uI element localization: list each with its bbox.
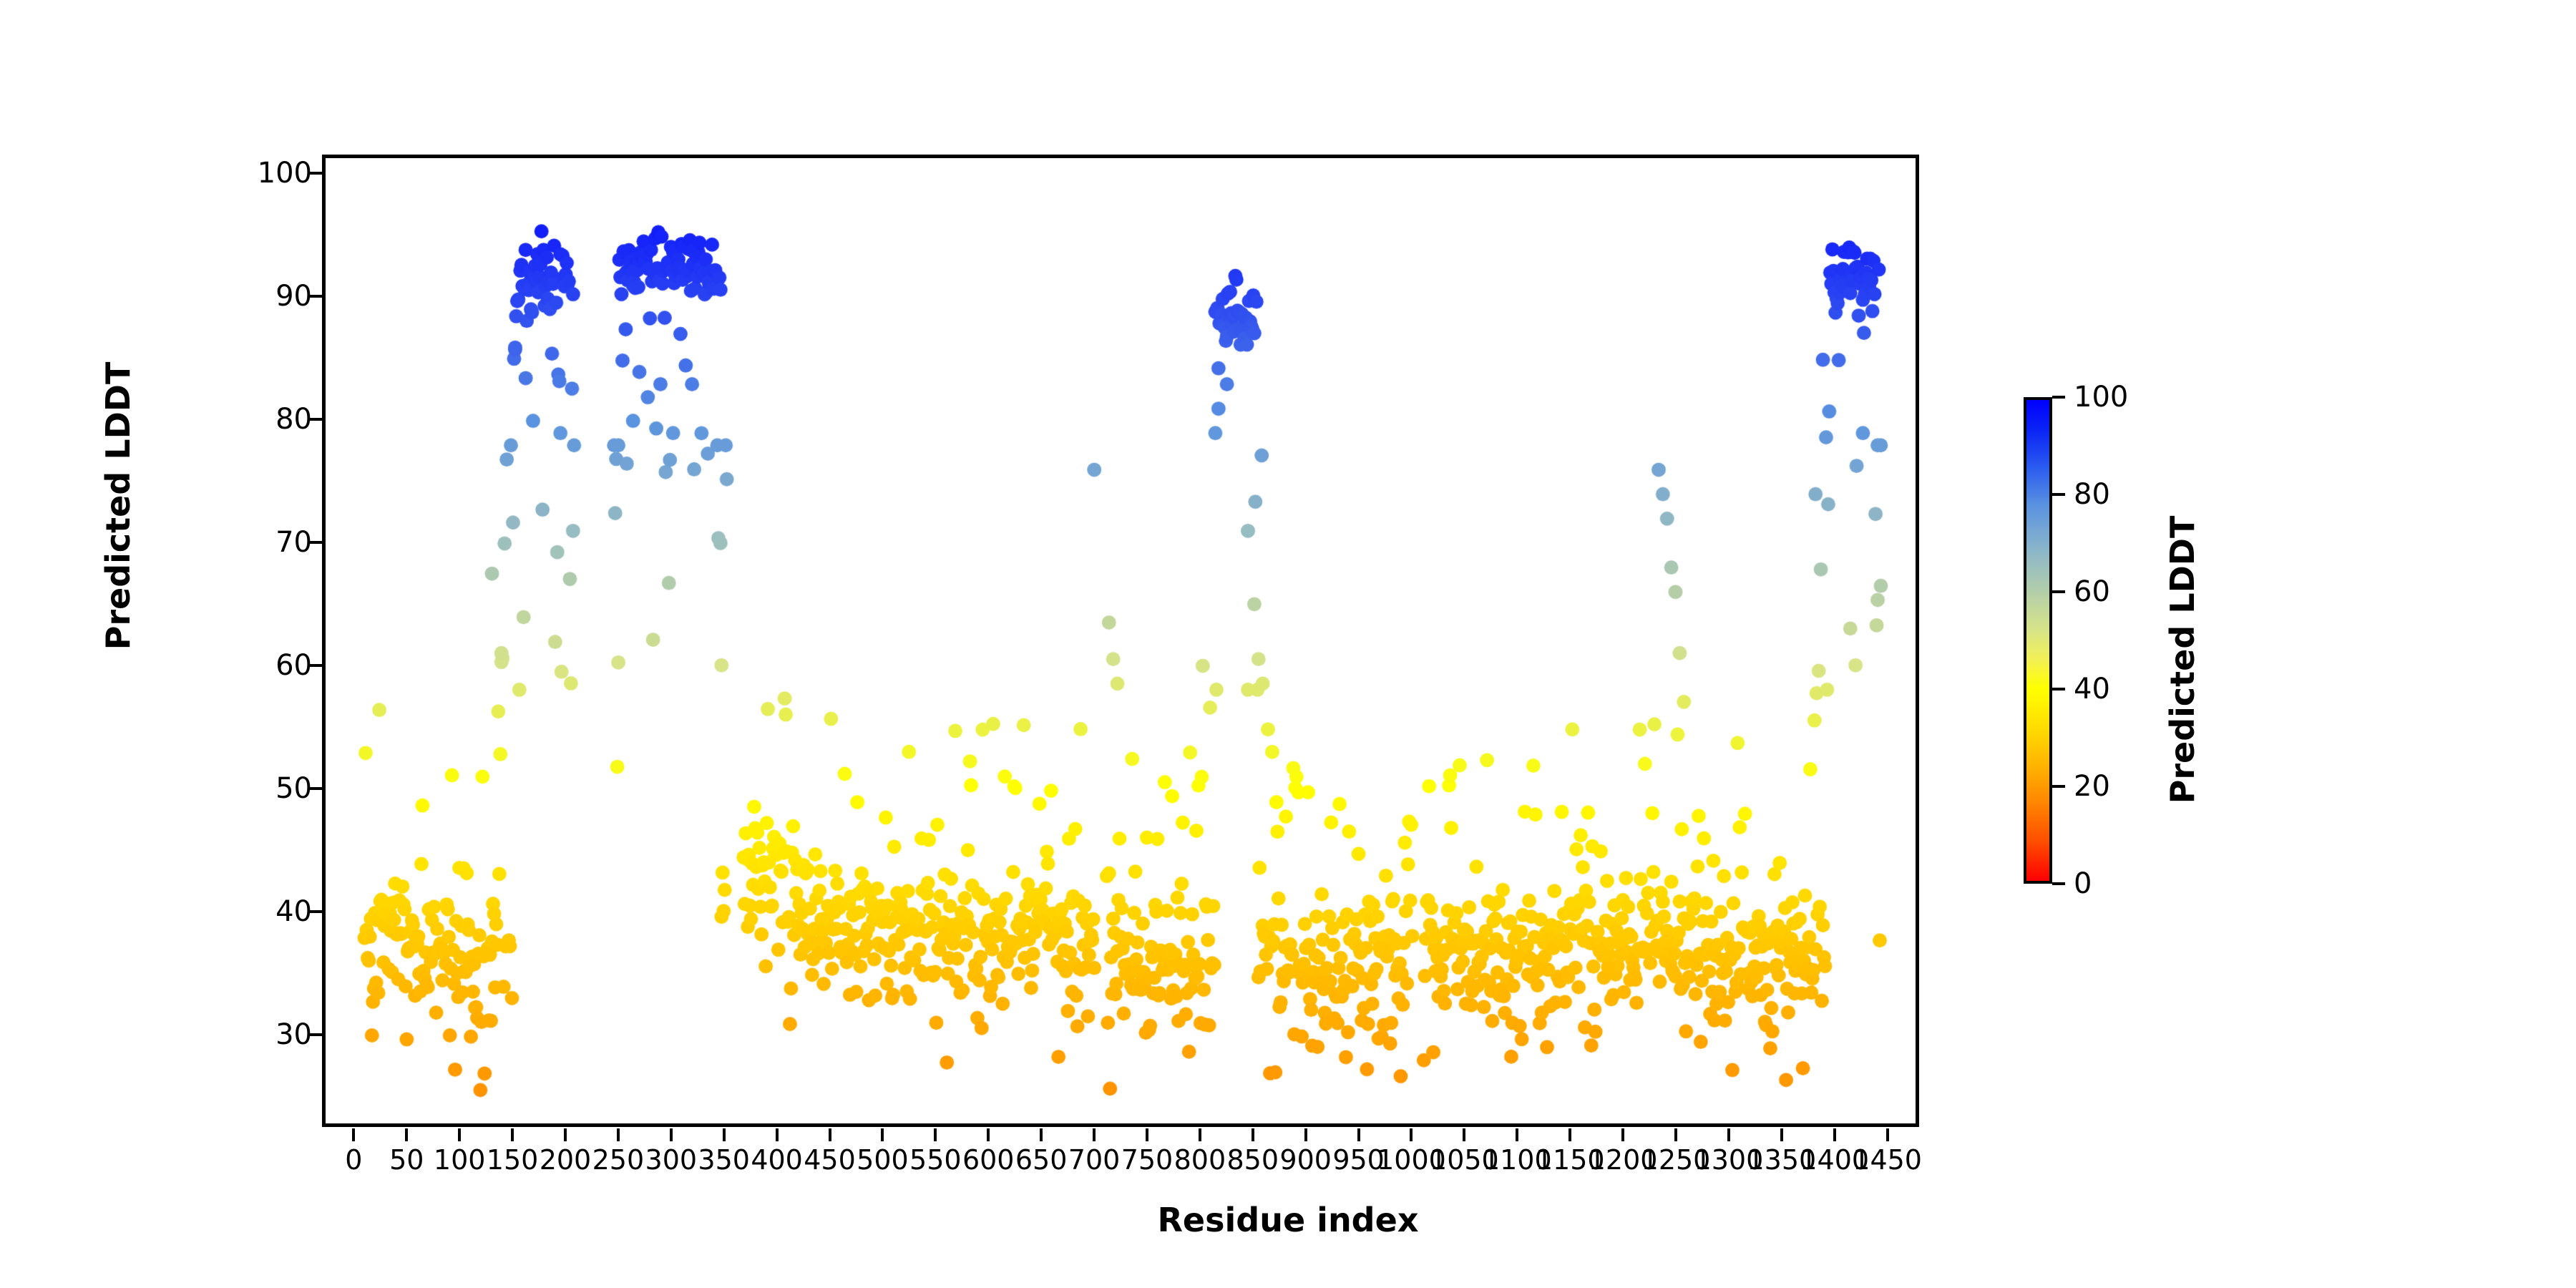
y-tick-label: 80 xyxy=(275,405,312,434)
colorbar xyxy=(2024,397,2052,884)
y-tick-label: 70 xyxy=(275,528,312,557)
x-tick-label: 1450 xyxy=(1845,1145,1931,1175)
y-axis-label: Predicted LDDT xyxy=(99,320,137,692)
scatter-figure: Predicted LDDT 30405060708090100 0501001… xyxy=(0,0,2576,1288)
x-tick-mark xyxy=(1833,1128,1836,1141)
x-tick-mark xyxy=(776,1128,779,1141)
x-tick-mark xyxy=(1727,1128,1730,1141)
x-tick-mark xyxy=(829,1128,831,1141)
colorbar-tick-mark xyxy=(2052,590,2065,593)
x-tick-mark xyxy=(1780,1128,1783,1141)
x-tick-mark xyxy=(1410,1128,1413,1141)
colorbar-gradient xyxy=(2024,397,2052,884)
colorbar-tick-label: 0 xyxy=(2074,869,2092,898)
colorbar-tick-mark xyxy=(2052,785,2065,788)
x-tick-mark xyxy=(405,1128,408,1141)
x-tick-mark xyxy=(934,1128,937,1141)
x-tick-mark xyxy=(1463,1128,1465,1141)
y-tick-label: 100 xyxy=(258,159,312,187)
y-tick-label: 60 xyxy=(275,651,312,680)
plot-area xyxy=(322,155,1919,1127)
x-tick-mark xyxy=(670,1128,673,1141)
x-tick-mark xyxy=(458,1128,461,1141)
colorbar-tick-label: 40 xyxy=(2074,675,2110,703)
x-tick-mark xyxy=(1516,1128,1518,1141)
scatter-points-layer xyxy=(326,158,1916,1123)
x-tick-mark xyxy=(1093,1128,1096,1141)
x-tick-mark xyxy=(987,1128,990,1141)
colorbar-tick-mark xyxy=(2052,882,2065,885)
x-tick-mark xyxy=(1621,1128,1624,1141)
colorbar-tick-label: 100 xyxy=(2074,383,2128,411)
colorbar-tick-mark xyxy=(2052,493,2065,496)
x-tick-mark xyxy=(617,1128,620,1141)
x-tick-mark xyxy=(881,1128,884,1141)
x-tick-mark xyxy=(1146,1128,1148,1141)
x-tick-mark xyxy=(1199,1128,1201,1141)
x-tick-mark xyxy=(352,1128,355,1141)
x-tick-mark xyxy=(511,1128,514,1141)
x-tick-mark xyxy=(1040,1128,1043,1141)
colorbar-tick-label: 60 xyxy=(2074,577,2110,606)
y-tick-label: 40 xyxy=(275,897,312,926)
x-tick-mark xyxy=(723,1128,726,1141)
colorbar-tick-mark xyxy=(2052,396,2065,399)
x-tick-mark xyxy=(564,1128,567,1141)
x-tick-mark xyxy=(1304,1128,1307,1141)
y-tick-label: 30 xyxy=(275,1020,312,1049)
colorbar-tick-label: 20 xyxy=(2074,772,2110,801)
x-tick-mark xyxy=(1674,1128,1677,1141)
x-tick-mark xyxy=(1252,1128,1254,1141)
x-tick-mark xyxy=(1568,1128,1571,1141)
y-tick-label: 50 xyxy=(275,774,312,803)
colorbar-tick-mark xyxy=(2052,688,2065,691)
colorbar-label: Predicted LDDT xyxy=(2163,474,2202,846)
x-axis-label: Residue index xyxy=(0,1201,2576,1239)
x-tick-mark xyxy=(1886,1128,1889,1141)
x-tick-mark xyxy=(1357,1128,1360,1141)
y-tick-label: 90 xyxy=(275,282,312,311)
colorbar-tick-label: 80 xyxy=(2074,480,2110,509)
